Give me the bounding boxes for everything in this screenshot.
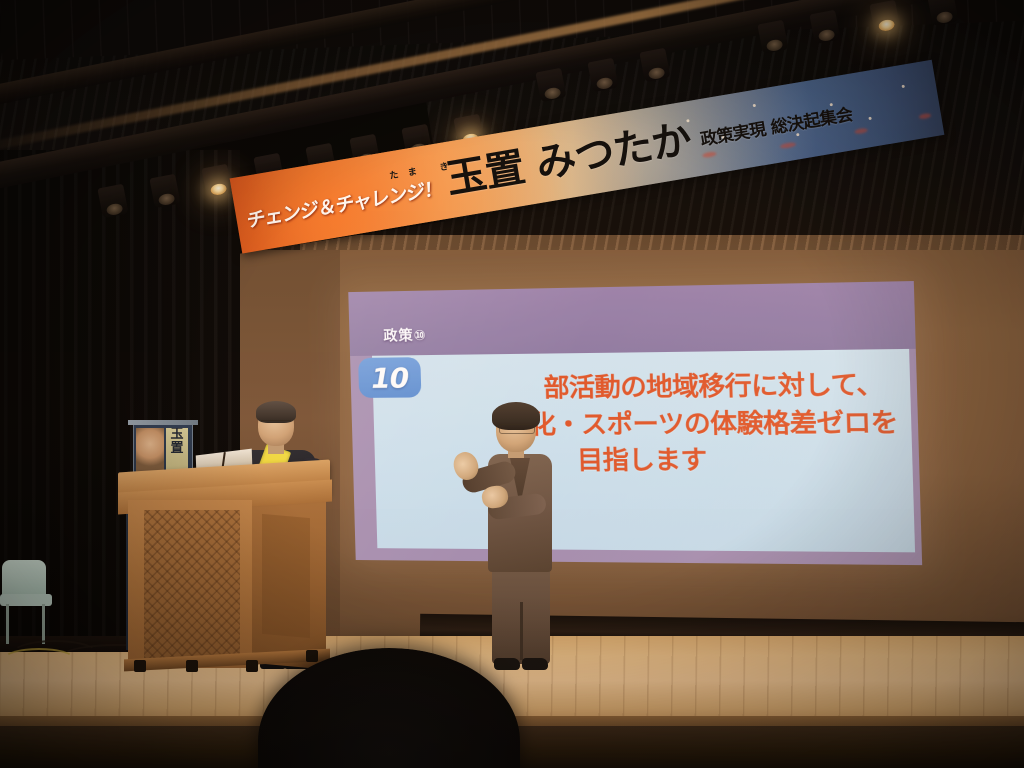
stage-photo-scene: チェンジ＆チャレンジ！ たま き 玉置 みつたか 政策実現 総決起集会 政策⑩ … bbox=[0, 0, 1024, 768]
spotlight-icon bbox=[587, 58, 618, 92]
slide-number-badge: 10 bbox=[358, 357, 421, 398]
spotlight-icon bbox=[305, 143, 336, 177]
interpreter-leg-gap bbox=[520, 602, 523, 660]
slide-badge-number: 10 bbox=[371, 361, 409, 395]
spotlight-icon bbox=[401, 124, 432, 158]
podium-front-grille bbox=[144, 510, 240, 658]
spotlight-icon bbox=[349, 134, 380, 168]
speaker-glasses-icon bbox=[261, 420, 291, 428]
sign-language-interpreter bbox=[466, 406, 576, 672]
spotlight-icon bbox=[253, 153, 284, 187]
podium-foot bbox=[134, 660, 146, 672]
spotlight-icon bbox=[97, 184, 128, 218]
spotlight-icon bbox=[639, 48, 670, 82]
presentation-slide: 政策⑩ 部活動の地域移行に対して、 文化・スポーツの体験格差ゼロを 目指します … bbox=[348, 281, 922, 565]
chair-leg bbox=[42, 604, 45, 644]
slide-line-1: 部活動の地域移行に対して、 bbox=[443, 366, 900, 407]
podium-foot bbox=[306, 650, 318, 662]
interpreter-shoe bbox=[494, 658, 520, 670]
poster-top-bar bbox=[128, 420, 198, 425]
podium-side-inset bbox=[262, 514, 310, 638]
chair-leg bbox=[6, 604, 9, 644]
spotlight-icon bbox=[757, 20, 788, 54]
interpreter-glasses-icon bbox=[499, 424, 535, 434]
interpreter-shoe bbox=[522, 658, 548, 670]
podium-foot bbox=[186, 660, 198, 672]
slide-header-band bbox=[348, 281, 916, 356]
projection-screen: 政策⑩ 部活動の地域移行に対して、 文化・スポーツの体験格差ゼロを 目指します … bbox=[348, 281, 922, 565]
spotlight-icon bbox=[453, 114, 484, 148]
spotlight-icon bbox=[535, 68, 566, 102]
chair-backrest bbox=[2, 560, 46, 598]
spotlight-icon bbox=[809, 10, 840, 44]
spotlight-icon bbox=[149, 174, 180, 208]
podium-foot bbox=[246, 660, 258, 672]
spotlight-icon bbox=[869, 0, 900, 34]
slide-body: 部活動の地域移行に対して、 文化・スポーツの体験格差ゼロを 目指します bbox=[372, 349, 915, 552]
spotlight-icon bbox=[201, 164, 232, 198]
slide-header-label: 政策⑩ bbox=[383, 325, 427, 346]
